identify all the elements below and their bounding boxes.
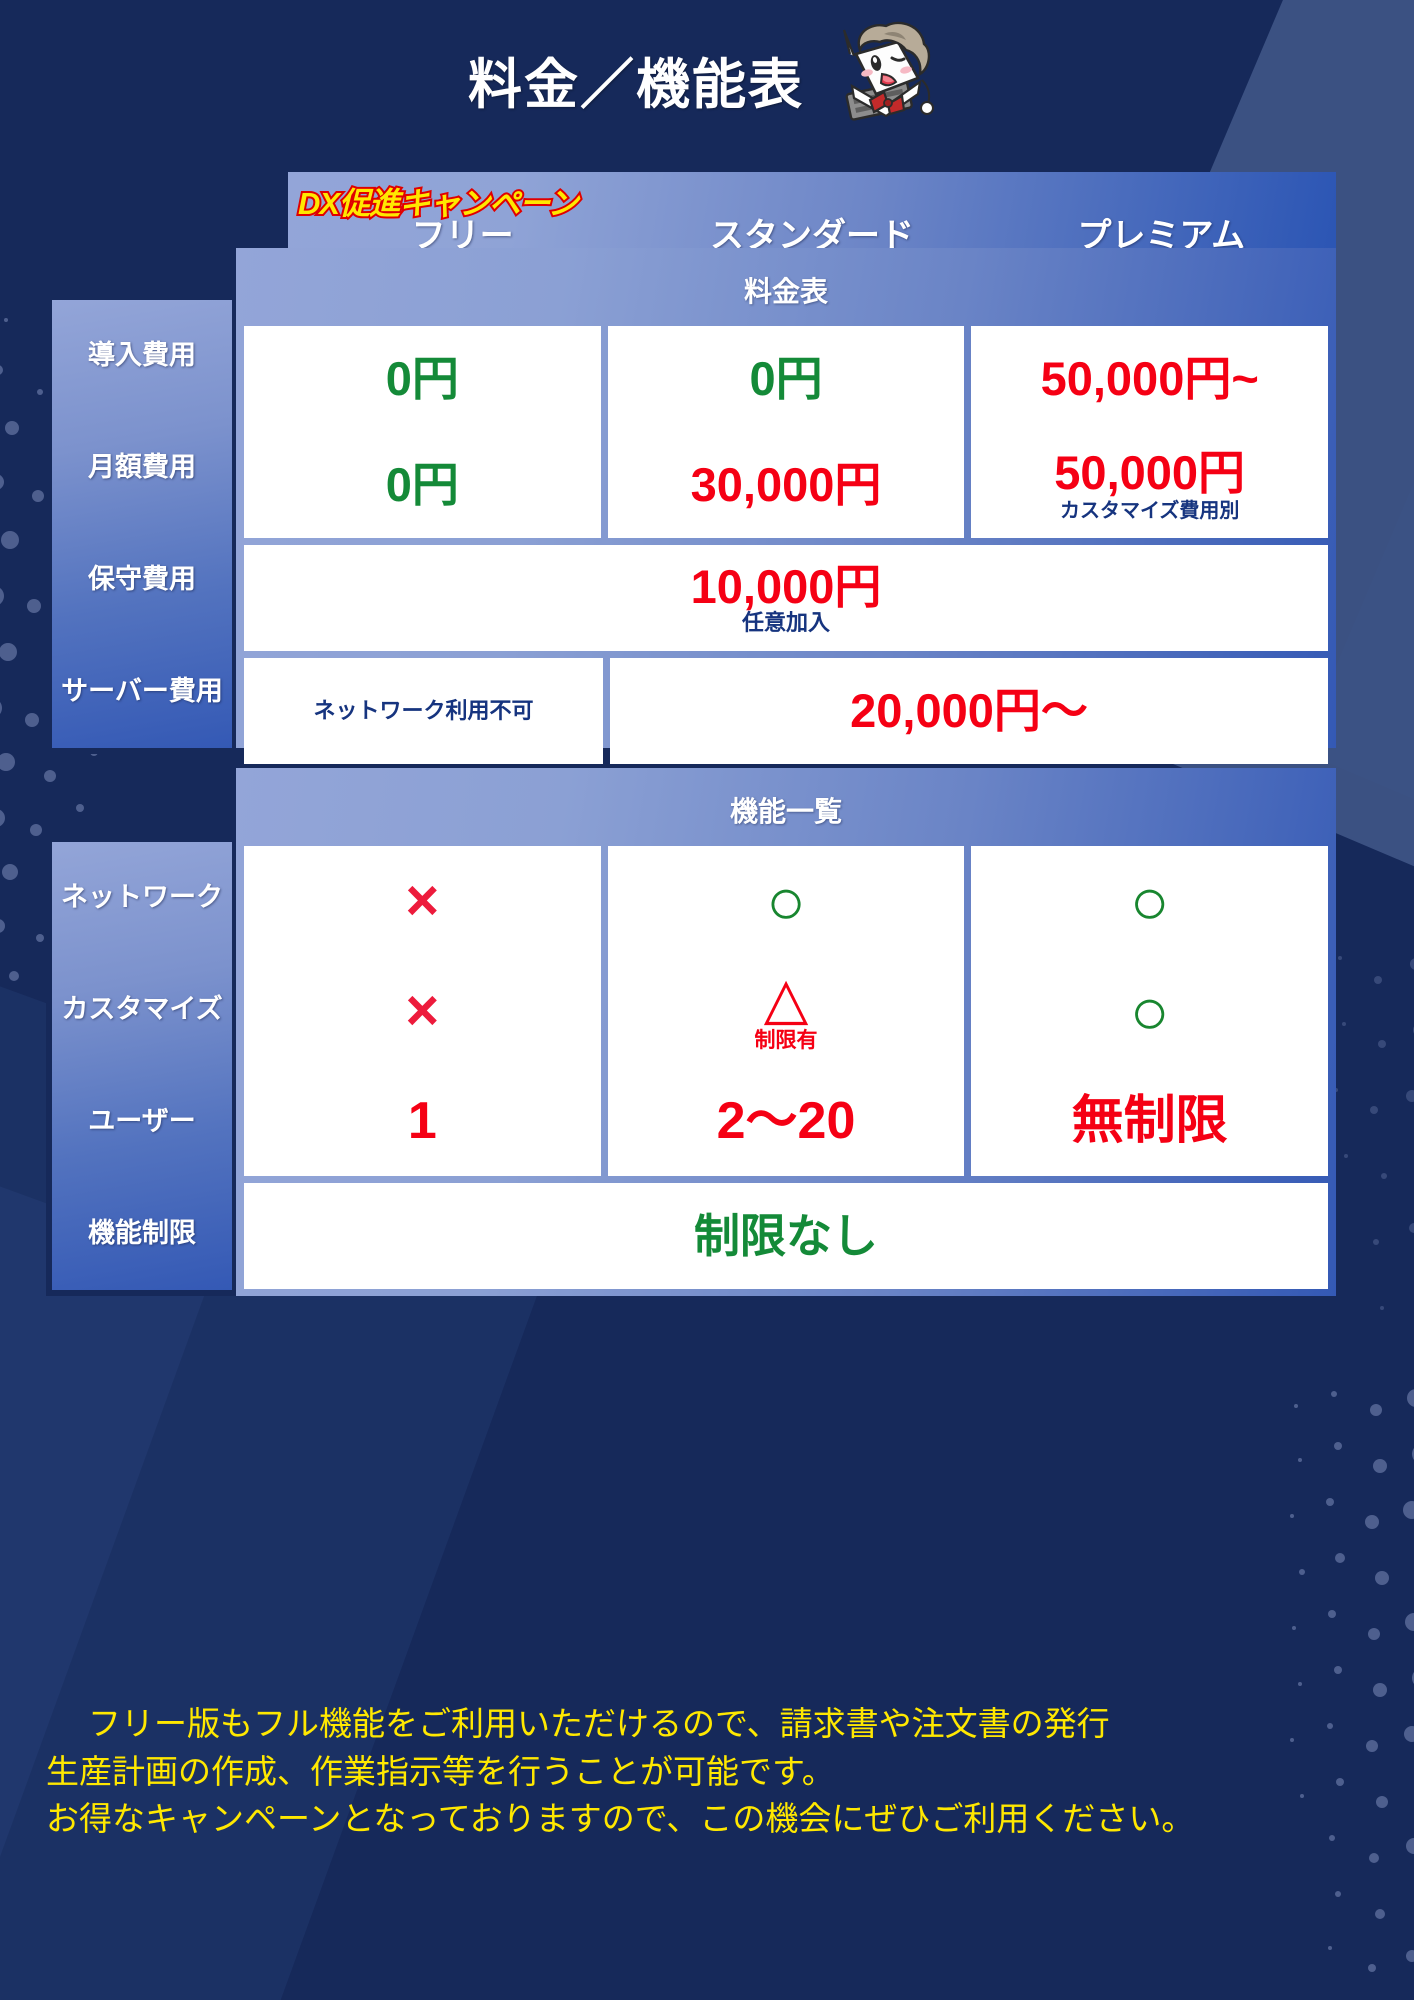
features-grid: × × 1 ○ △ 制限有 2〜20 [244,846,1328,1289]
cell-users-standard: 2〜20 [608,1066,965,1176]
cell-value: 0円 [749,354,822,403]
cell-monthly-standard: 30,000円 [608,432,965,538]
triangle-icon: △ [764,970,809,1028]
footer-note: フリー版もフル機能をご利用いただけるので、請求書や注文書の発行 生産計画の作成、… [46,1700,1386,1843]
cell-value: 無制限 [1072,1094,1228,1149]
cube-character-mascot-icon [826,20,946,138]
cell-users-premium: 無制限 [971,1066,1328,1176]
pricing-section-title: 料金表 [244,256,1328,326]
cell-customize-standard: △ 制限有 [608,956,965,1066]
row-label-users: ユーザー [52,1066,232,1178]
cross-icon: × [405,872,439,930]
row-label-feature-limit: 機能制限 [52,1178,232,1290]
cell-value: 制限なし [694,1212,878,1260]
cell-value: 50,000円 [1054,448,1245,497]
cell-value: 0円 [386,460,459,509]
cell-value: 2〜20 [717,1094,856,1149]
cell-users-free: 1 [244,1066,601,1176]
cell-value: ネットワーク利用不可 [313,699,533,722]
cell-value: 50,000円~ [1041,354,1259,403]
footer-line-2: 生産計画の作成、作業指示等を行うことが可能です。 [46,1748,1386,1796]
footer-line-1: フリー版もフル機能をご利用いただけるので、請求書や注文書の発行 [46,1700,1386,1748]
features-row-symbols: × × 1 ○ △ 制限有 2〜20 [244,846,1328,1176]
pricing-row-label-column: 導入費用 月額費用 保守費用 サーバー費用 [52,300,232,748]
cell-value: 20,000円〜 [850,686,1088,735]
cell-feature-limit-all: 制限なし [244,1183,1328,1289]
features-section-title: 機能一覧 [244,776,1328,846]
row-label-maintenance: 保守費用 [52,524,232,636]
row-label-network: ネットワーク [52,842,232,954]
page-header: 料金／機能表 [0,0,1414,158]
cell-network-free: × [244,846,601,956]
cell-maintenance-all: 10,000円 任意加入 [244,545,1328,651]
cell-server-standard-premium: 20,000円〜 [610,658,1328,764]
circle-icon: ○ [1130,978,1170,1044]
cell-monthly-free: 0円 [244,432,601,538]
pricing-row-maintenance: 10,000円 任意加入 [244,545,1328,651]
pricing-row-costs: 0円 0円 0円 30,000円 50,000円~ 50,000 [244,326,1328,538]
circle-icon: ○ [766,868,806,934]
cell-value: 30,000円 [691,460,882,509]
pricing-panel: 料金表 0円 0円 0円 30,000円 [236,248,1336,748]
cell-initial-standard: 0円 [608,326,965,432]
cell-network-premium: ○ [971,846,1328,956]
cell-note: 任意加入 [742,611,830,634]
campaign-badge: DX促進キャンペーン [298,178,578,223]
row-label-initial-cost: 導入費用 [52,300,232,412]
cell-customize-premium: ○ [971,956,1328,1066]
cell-value: 1 [408,1094,437,1149]
dot-pattern-right-icon [1276,1380,1414,2000]
cell-monthly-premium: 50,000円 カスタマイズ費用別 [971,432,1328,538]
circle-icon: ○ [1130,868,1170,934]
cell-initial-free: 0円 [244,326,601,432]
footer-line-3: お得なキャンペーンとなっておりますので、この機会にぜひご利用ください。 [46,1795,1386,1843]
row-label-customize: カスタマイズ [52,954,232,1066]
cell-network-standard: ○ [608,846,965,956]
features-panel: 機能一覧 × × 1 ○ △ 制限有 [236,768,1336,1296]
page-title: 料金／機能表 [468,40,804,119]
cell-server-free: ネットワーク利用不可 [244,658,603,764]
cell-value: 0円 [386,354,459,403]
pricing-grid: 0円 0円 0円 30,000円 50,000円~ 50,000 [244,326,1328,764]
features-row-label-column: ネットワーク カスタマイズ ユーザー 機能制限 [52,842,232,1290]
pricing-row-server: ネットワーク利用不可 20,000円〜 [244,658,1328,764]
cell-value: 10,000円 [691,562,882,611]
row-label-server-cost-text: サーバー費用 [61,676,223,708]
features-row-limits: 制限なし [244,1183,1328,1289]
cell-initial-premium: 50,000円~ [971,326,1328,432]
cell-note: カスタマイズ費用別 [1060,501,1239,522]
cell-note: 制限有 [755,1030,818,1052]
row-label-monthly-cost: 月額費用 [52,412,232,524]
cell-customize-free: × [244,956,601,1066]
cross-icon: × [405,982,439,1040]
row-label-server-cost: サーバー費用 [52,636,232,748]
